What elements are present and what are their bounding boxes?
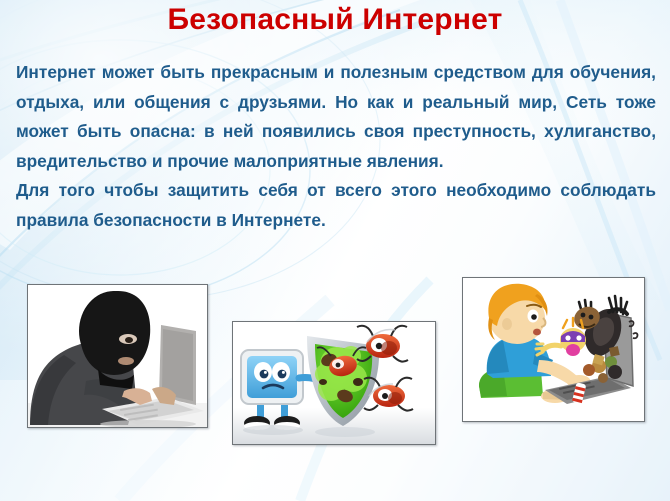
shield-antivirus-photo	[232, 321, 436, 445]
paragraph-rules: Для того чтобы защитить себя от всего эт…	[16, 176, 656, 235]
paragraph-intro: Интернет может быть прекрасным и полезны…	[16, 58, 656, 176]
boy-laptop-photo	[462, 277, 645, 422]
slide-body-text: Интернет может быть прекрасным и полезны…	[16, 58, 656, 235]
slide-title: Безопасный Интернет	[0, 3, 670, 37]
presentation-slide: Безопасный Интернет Интернет может быть …	[0, 0, 670, 501]
hacker-photo	[27, 284, 208, 428]
